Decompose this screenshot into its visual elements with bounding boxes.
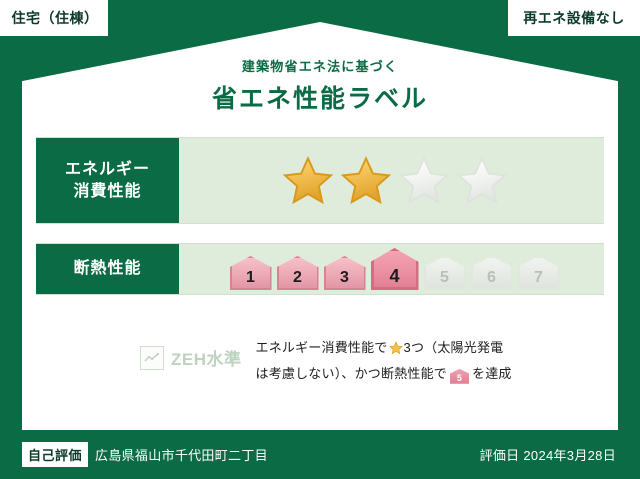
star-icon-filled (282, 155, 334, 207)
page-title: 建築物省エネ法に基づく 省エネ性能ラベル (0, 56, 640, 115)
zeh-description-line2: は考慮しない）、かつ断熱性能で5を達成 (256, 363, 512, 386)
insulation-key-line1: 断熱性能 (73, 258, 141, 280)
property-address: 広島県福山市千代田町二丁目 (95, 445, 268, 464)
zeh-description-line1: エネルギー消費性能で3つ（太陽光発電 (256, 337, 512, 363)
insulation-level-2: 2 (277, 256, 319, 290)
star-icon-filled (340, 155, 392, 207)
evaluation-date: 評価日 2024年3月28日 (480, 445, 616, 464)
star-rating (282, 155, 508, 207)
zeh-mark: ZEH水準 (140, 337, 242, 370)
insulation-level-1: 1 (230, 256, 272, 290)
insulation-level-6: 6 (471, 256, 513, 290)
star-icon (389, 343, 403, 358)
footer-bar: 自己評価 広島県福山市千代田町二丁目 評価日 2024年3月28日 (0, 430, 640, 479)
energy-performance-label-key: エネルギー 消費性能 (36, 138, 179, 223)
evaluation-type-badge: 自己評価 (22, 442, 88, 467)
zeh-desc-line1-b: 3つ（太陽光発電 (404, 340, 504, 355)
insulation-level-scale: 1234567 (230, 248, 560, 290)
insulation-level-4: 4 (371, 248, 419, 290)
insulation-level-5: 5 (424, 256, 466, 290)
title-main: 省エネ性能ラベル (0, 79, 640, 115)
insulation-level-7: 7 (518, 256, 560, 290)
insulation-performance-label-key: 断熱性能 (36, 244, 179, 294)
star-icon-empty (398, 155, 450, 207)
energy-performance-stars-area (179, 138, 604, 223)
star-icon-empty (456, 155, 508, 207)
zeh-description: エネルギー消費性能で3つ（太陽光発電 は考慮しない）、かつ断熱性能で5を達成 (256, 337, 512, 386)
zeh-standard-section: ZEH水準 エネルギー消費性能で3つ（太陽光発電 は考慮しない）、かつ断熱性能で… (140, 337, 512, 386)
title-subtitle: 建築物省エネ法に基づく (0, 56, 640, 75)
renewable-equipment-tag: 再エネ設備なし (508, 0, 640, 36)
zeh-chart-icon (140, 346, 164, 370)
energy-key-line2: 消費性能 (73, 181, 141, 203)
zeh-desc-line1-a: エネルギー消費性能で (256, 340, 388, 355)
energy-performance-label: 住宅（住棟） 再エネ設備なし 建築物省エネ法に基づく 省エネ性能ラベル エネルギ… (0, 0, 640, 479)
building-type-tag: 住宅（住棟） (0, 0, 108, 36)
zeh-desc-line2-b: を達成 (472, 366, 512, 381)
energy-key-line1: エネルギー (65, 159, 150, 181)
energy-performance-row: エネルギー 消費性能 (36, 137, 604, 224)
insulation-performance-badges-area: 1234567 (179, 244, 604, 294)
zeh-desc-line2-a: は考慮しない）、かつ断熱性能で (256, 366, 448, 381)
zeh-mark-label: ZEH水準 (171, 345, 242, 370)
insulation-performance-row: 断熱性能 1234567 (36, 243, 604, 295)
insulation-level-3: 3 (324, 256, 366, 290)
insulation-level-badge-icon: 5 (450, 369, 469, 384)
